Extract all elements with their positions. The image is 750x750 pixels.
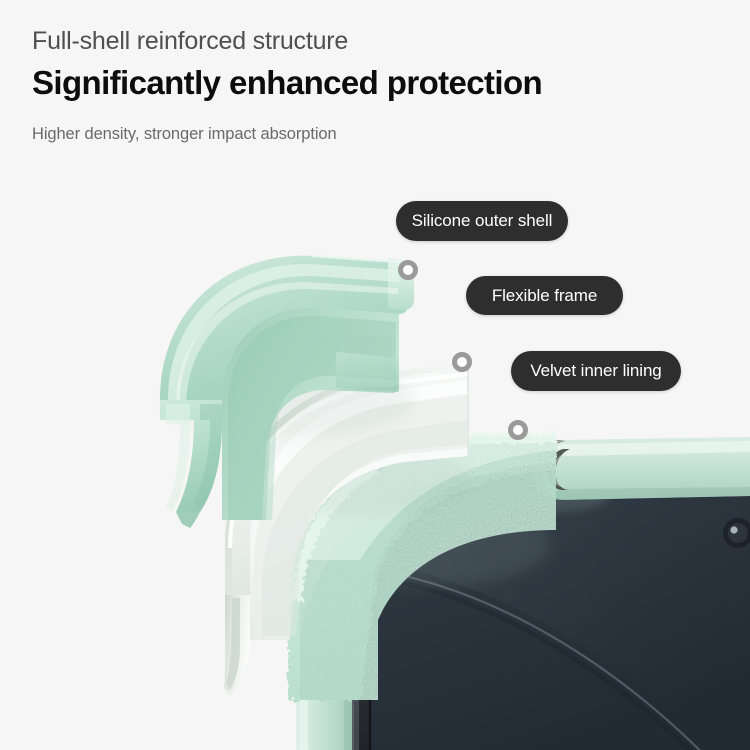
connector-dot-velvet-inner-lining: [508, 420, 528, 440]
callout-silicone-outer-shell[interactable]: Silicone outer shell: [396, 201, 568, 241]
product-feature-image: Full-shell reinforced structure Signific…: [0, 0, 750, 750]
callout-velvet-inner-lining[interactable]: Velvet inner lining: [511, 351, 681, 391]
callout-flexible-frame[interactable]: Flexible frame: [466, 276, 623, 315]
connector-dot-flexible-frame: [452, 352, 472, 372]
connector-dot-silicone-outer-shell: [398, 260, 418, 280]
